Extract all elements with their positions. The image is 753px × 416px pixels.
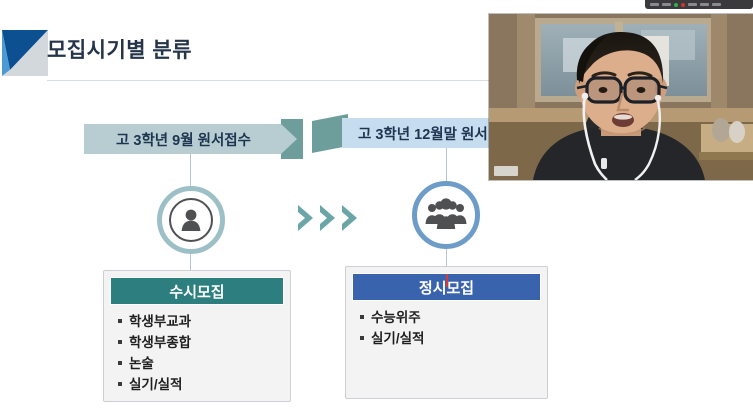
list-item-label: 실기/실적 (129, 374, 182, 395)
bullet-icon (118, 361, 122, 365)
share-bar-button[interactable] (688, 3, 697, 6)
list-item-label: 논술 (129, 353, 154, 374)
page-title: 모집시기별 분류 (47, 34, 192, 64)
title-decoration-icon (2, 30, 48, 76)
connector-line (190, 154, 191, 186)
bullet-icon (118, 382, 122, 386)
stop-share-icon[interactable] (681, 3, 685, 7)
list-item: 학생부종합 (118, 332, 282, 353)
list-item-label: 실기/실적 (371, 328, 424, 349)
single-person-disc (169, 198, 213, 242)
chevron-right-icon (340, 203, 361, 233)
connector-line (190, 254, 191, 270)
list-item-label: 수능위주 (371, 307, 421, 328)
bullet-icon (360, 315, 364, 319)
list-item: 실기/실적 (118, 374, 282, 395)
connector-line (446, 148, 447, 181)
connector-line (446, 249, 447, 266)
admission-box-susi: 수시모집 학생부교과 학생부종합 논술 실기/실적 (103, 270, 291, 402)
list-item: 학생부교과 (118, 311, 282, 332)
share-bar-button[interactable] (700, 3, 709, 6)
chevron-right-icon (296, 203, 317, 233)
flow-arrow-chevrons (296, 203, 361, 233)
share-bar-button[interactable] (662, 3, 671, 6)
video-name-badge (494, 166, 518, 176)
bullet-icon (118, 340, 122, 344)
box-item-list: 수능위주 실기/실적 (360, 307, 539, 349)
box-header-susi: 수시모집 (110, 277, 284, 305)
text-cursor-caret (446, 274, 448, 287)
screen-share-control-bar[interactable] (645, 0, 753, 9)
recording-indicator-icon (674, 3, 678, 7)
presenter-webcam-feed (489, 14, 753, 180)
chevron-right-icon (318, 203, 339, 233)
single-person-icon (177, 206, 205, 234)
list-item: 실기/실적 (360, 328, 539, 349)
list-item: 수능위주 (360, 307, 539, 328)
bullet-icon (360, 336, 364, 340)
group-people-circle (412, 181, 480, 249)
list-item-label: 학생부종합 (129, 332, 191, 353)
timeline-banner-september: 고 3학년 9월 원서접수 (84, 124, 297, 154)
list-item: 논술 (118, 353, 282, 374)
share-bar-button[interactable] (650, 3, 659, 6)
box-item-list: 학생부교과 학생부종합 논술 실기/실적 (118, 311, 282, 395)
single-person-circle (157, 186, 225, 254)
bullet-icon (118, 319, 122, 323)
list-item-label: 학생부교과 (129, 311, 191, 332)
presenter-video-overlay[interactable] (489, 14, 753, 180)
share-bar-button[interactable] (712, 3, 721, 6)
group-people-icon (424, 198, 468, 232)
